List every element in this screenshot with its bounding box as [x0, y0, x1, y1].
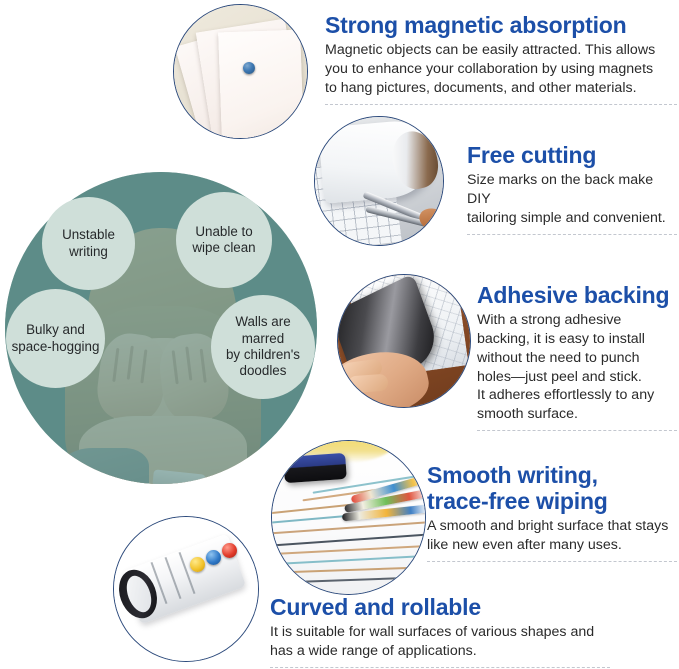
- infographic-page: Strong magnetic absorption Magnetic obje…: [0, 0, 679, 669]
- pain-bubble-label: Walls are marred by children's doodles: [215, 314, 311, 379]
- pain-bubble-label: Bulky and space-hogging: [12, 322, 100, 355]
- pain-bubble-label: Unable to wipe clean: [192, 224, 255, 257]
- divider: [477, 430, 677, 431]
- feature-title: Free cutting: [467, 142, 677, 168]
- divider: [270, 667, 610, 668]
- pain-bubble-unable-to-wipe-clean: Unable to wipe clean: [176, 192, 272, 288]
- feature-title: Strong magnetic absorption: [325, 12, 677, 38]
- photo-curved-and-rollable: [113, 516, 259, 662]
- feature-free-cutting: Free cutting Size marks on the back make…: [467, 142, 677, 235]
- finger: [347, 374, 388, 394]
- photo-strong-magnetic-absorption: [173, 4, 308, 139]
- feature-body: With a strong adhesive backing, it is ea…: [477, 311, 677, 424]
- photo-free-cutting: [314, 116, 444, 246]
- feature-curved-and-rollable: Curved and rollable It is suitable for w…: [270, 594, 610, 668]
- blue-magnet-icon: [243, 62, 255, 74]
- pain-bubble-bulky-and-space-hogging: Bulky and space-hogging: [6, 289, 105, 388]
- magnetic-sheet: [218, 30, 304, 139]
- feature-title: Adhesive backing: [477, 282, 677, 308]
- feature-body: Size marks on the back make DIY tailorin…: [467, 171, 677, 228]
- yellow-magnet-icon: [190, 557, 205, 572]
- feature-body: It is suitable for wall surfaces of vari…: [270, 623, 610, 661]
- feature-body: Magnetic objects can be easily attracted…: [325, 41, 677, 98]
- feature-smooth-writing: Smooth writing, trace-free wiping A smoo…: [427, 462, 677, 562]
- feature-adhesive-backing: Adhesive backing With a strong adhesive …: [477, 282, 677, 431]
- feature-body: A smooth and bright surface that stays l…: [427, 517, 677, 555]
- divider: [325, 104, 677, 105]
- blue-magnet-icon: [206, 550, 221, 565]
- photo-adhesive-backing: [337, 274, 471, 408]
- divider: [427, 561, 677, 562]
- divider: [467, 234, 677, 235]
- feature-title: Curved and rollable: [270, 594, 610, 620]
- pain-bubble-walls-are-marred: Walls are marred by children's doodles: [211, 295, 315, 399]
- pain-bubble-label: Unstable writing: [46, 227, 131, 260]
- feature-title: Smooth writing, trace-free wiping: [427, 462, 677, 514]
- pain-bubble-unstable-writing: Unstable writing: [42, 197, 135, 290]
- feature-strong-magnetic-absorption: Strong magnetic absorption Magnetic obje…: [325, 12, 677, 105]
- red-magnet-icon: [222, 543, 237, 558]
